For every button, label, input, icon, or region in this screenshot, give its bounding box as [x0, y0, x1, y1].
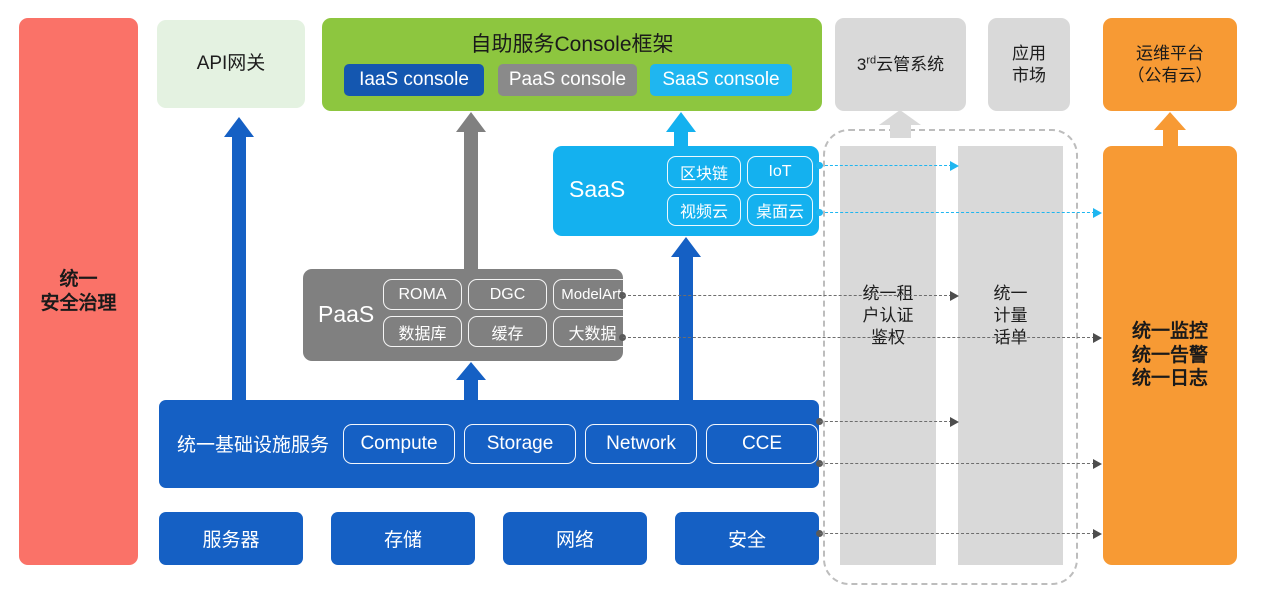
third-party-label: 3rd云管系统 [857, 54, 944, 75]
security-governance-line2: 安全治理 [40, 292, 116, 316]
auth-column [840, 146, 936, 565]
ops-panel-line3: 统一日志 [1132, 367, 1208, 391]
hardware-network-box[interactable]: 网络 [503, 512, 647, 565]
arrow-infra-to-apigw-head [224, 117, 254, 137]
conn-saas-auth-arrow [950, 161, 959, 171]
api-gateway-box: API网关 [157, 20, 305, 108]
paas-console-label: PaaS console [509, 69, 626, 91]
ops-panel-line1: 统一监控 [1132, 320, 1208, 344]
billing-line2: 计量 [958, 305, 1063, 327]
paas-layer-label: PaaS [318, 301, 374, 328]
app-market-line2: 市场 [1012, 65, 1046, 86]
conn-paas-ops-line [623, 337, 1095, 338]
billing-column [958, 146, 1063, 565]
app-market-box: 应用 市场 [988, 18, 1070, 111]
billing-column-text: 统一 计量 话单 [958, 283, 1063, 349]
arrow-paas-to-console-head [456, 112, 486, 132]
paas-tag-cache[interactable]: 缓存 [468, 316, 547, 347]
saas-tag-blockchain[interactable]: 区块链 [667, 156, 741, 188]
third-party-arrow-head [879, 110, 921, 125]
saas-console-label: SaaS console [662, 69, 779, 91]
arrow-ops-panel-to-platform-shaft [1163, 128, 1178, 146]
conn-paas-auth-line [623, 295, 952, 296]
auth-column-text: 统一租 户认证 鉴权 [840, 283, 936, 349]
hardware-security-box[interactable]: 安全 [675, 512, 819, 565]
arrow-infra-to-saas-shaft [679, 255, 693, 400]
saas-tag-video-cloud[interactable]: 视频云 [667, 194, 741, 226]
iaas-console-label: IaaS console [359, 69, 469, 91]
arrow-infra-to-paas-head [456, 362, 486, 380]
infra-tag-compute[interactable]: Compute [343, 424, 455, 464]
ops-platform-box: 运维平台 （公有云） [1103, 18, 1237, 111]
paas-console-chip[interactable]: PaaS console [498, 64, 637, 96]
infra-tag-network[interactable]: Network [585, 424, 697, 464]
conn-infra-auth-line [820, 421, 952, 422]
paas-tag-roma[interactable]: ROMA [383, 279, 462, 310]
unified-infrastructure-bar: 统一基础设施服务 Compute Storage Network CCE [159, 400, 819, 488]
conn-infra-auth-arrow [950, 417, 959, 427]
saas-layer-panel: SaaS 区块链 IoT 视频云 桌面云 [553, 146, 819, 236]
arrow-ops-panel-to-platform-head [1154, 112, 1186, 130]
auth-line3: 鉴权 [840, 327, 936, 349]
conn-infra-ops-arrow [1093, 459, 1102, 469]
saas-layer-label: SaaS [569, 176, 625, 203]
paas-tag-database[interactable]: 数据库 [383, 316, 462, 347]
arrow-paas-to-console-shaft [464, 130, 478, 269]
arrow-saas-to-console-shaft [674, 130, 688, 148]
unified-infrastructure-label: 统一基础设施服务 [177, 430, 329, 457]
iaas-console-chip[interactable]: IaaS console [344, 64, 484, 96]
app-market-line1: 应用 [1012, 43, 1046, 64]
ops-platform-line2: （公有云） [1128, 65, 1213, 86]
conn-infra-ops-line [820, 463, 1095, 464]
conn-saas-ops-arrow [1093, 208, 1102, 218]
saas-tag-iot[interactable]: IoT [747, 156, 813, 188]
api-gateway-label: API网关 [197, 52, 266, 76]
infra-tag-storage[interactable]: Storage [464, 424, 576, 464]
paas-tag-dgc[interactable]: DGC [468, 279, 547, 310]
conn-paas-auth-arrow [950, 291, 959, 301]
security-governance-panel: 统一 安全治理 [19, 18, 138, 565]
conn-saas-auth-line [820, 165, 952, 166]
security-governance-line1: 统一 [59, 268, 97, 292]
hardware-server-box[interactable]: 服务器 [159, 512, 303, 565]
architecture-diagram: 统一 安全治理 API网关 自助服务Console框架 IaaS console… [0, 0, 1265, 605]
hardware-storage-box[interactable]: 存储 [331, 512, 475, 565]
saas-console-chip[interactable]: SaaS console [650, 64, 792, 96]
console-framework-title: 自助服务Console框架 [322, 28, 822, 58]
infra-tag-cce[interactable]: CCE [706, 424, 818, 464]
conn-paas-ops-arrow [1093, 333, 1102, 343]
conn-saas-ops-line [820, 212, 1095, 213]
console-framework-panel: 自助服务Console框架 IaaS console PaaS console … [322, 18, 822, 111]
paas-tag-bigdata[interactable]: 大数据 [553, 316, 632, 347]
arrow-infra-to-apigw-shaft [232, 135, 246, 400]
arrow-infra-to-saas-head [671, 237, 701, 257]
third-party-superscript: rd [866, 54, 876, 66]
billing-line1: 统一 [958, 283, 1063, 305]
third-party-cloud-mgmt-box: 3rd云管系统 [835, 18, 966, 111]
conn-hardware-ops-arrow [1093, 529, 1102, 539]
conn-hardware-ops-line [820, 533, 1095, 534]
paas-layer-panel: PaaS ROMA DGC ModelArts 数据库 缓存 大数据 [303, 269, 623, 361]
ops-platform-line1: 运维平台 [1136, 43, 1204, 64]
arrow-infra-to-paas-shaft [464, 378, 478, 400]
ops-monitoring-panel: 统一监控 统一告警 统一日志 [1103, 146, 1237, 565]
arrow-saas-to-console-head [666, 112, 696, 132]
ops-panel-line2: 统一告警 [1132, 344, 1208, 368]
auth-line2: 户认证 [840, 305, 936, 327]
saas-tag-desktop-cloud[interactable]: 桌面云 [747, 194, 813, 226]
billing-line3: 话单 [958, 327, 1063, 349]
